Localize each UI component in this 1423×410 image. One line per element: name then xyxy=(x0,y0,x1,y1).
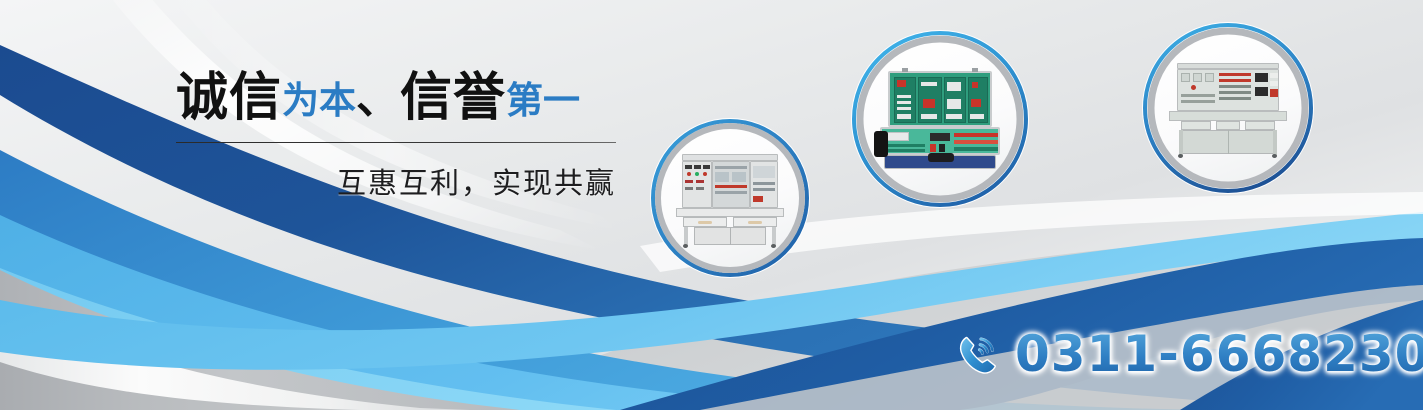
phone-call-icon xyxy=(955,331,1001,377)
product-ring-1 xyxy=(650,118,810,278)
headline-separator: 、 xyxy=(356,77,400,121)
product-circle-1[interactable] xyxy=(650,118,810,278)
headline-part-1: 诚信 xyxy=(176,72,282,124)
headline-part-2: 为本 xyxy=(282,82,356,119)
headline: 诚信 为本 、 信誉 第一 xyxy=(176,72,622,134)
product-ring-3 xyxy=(1142,22,1314,194)
product-circle-2[interactable] xyxy=(851,30,1029,208)
phone-number[interactable]: 0311-66682303 xyxy=(1015,325,1423,383)
product-ring-2 xyxy=(851,30,1029,208)
headline-block: 诚信 为本 、 信誉 第一 互惠互利，实现共赢 xyxy=(176,72,622,202)
headline-part-3: 信誉 xyxy=(400,72,506,124)
subtitle: 互惠互利，实现共赢 xyxy=(176,160,616,202)
contact-block[interactable]: 0311-66682303 xyxy=(955,325,1423,383)
headline-part-4: 第一 xyxy=(506,82,580,119)
promo-banner: 诚信 为本 、 信誉 第一 互惠互利，实现共赢 xyxy=(0,0,1423,410)
product-circle-3[interactable] xyxy=(1142,22,1314,194)
headline-divider xyxy=(176,142,616,143)
